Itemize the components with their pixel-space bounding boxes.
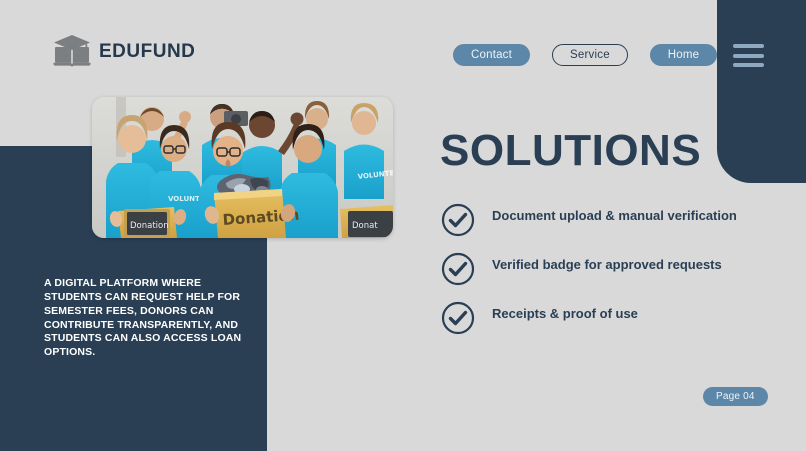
feature-label: Document upload & manual verification: [492, 202, 737, 225]
hamburger-bar-2: [733, 54, 764, 58]
check-circle-icon: [441, 252, 475, 286]
feature-label: Verified badge for approved requests: [492, 251, 722, 274]
feature-item: Receipts & proof of use: [441, 300, 761, 335]
brand-name: EDUFUND: [99, 42, 195, 61]
svg-text:Donation: Donation: [130, 221, 169, 231]
graduation-cap-book-icon: [52, 31, 92, 71]
hamburger-bar-3: [733, 63, 764, 67]
feature-list: Document upload & manual verification Ve…: [441, 202, 761, 335]
left-panel-description: A DIGITAL PLATFORM WHERE STUDENTS CAN RE…: [44, 277, 244, 360]
feature-label: Receipts & proof of use: [492, 300, 638, 323]
nav-item-home[interactable]: Home: [650, 44, 717, 66]
page-title: SOLUTIONS: [440, 128, 701, 174]
top-right-dark-panel: [717, 0, 806, 183]
check-circle-icon: [441, 203, 475, 237]
svg-text:Donat: Donat: [352, 221, 378, 231]
hamburger-menu-icon[interactable]: [733, 44, 764, 67]
main-nav: Contact Service Home: [453, 44, 717, 66]
feature-item: Document upload & manual verification: [441, 202, 761, 237]
page-number-badge: Page 04: [703, 387, 768, 406]
brand-logo[interactable]: EDUFUND: [52, 31, 195, 71]
volunteers-donation-photo: VOLUNTEER VOLUNTEER: [92, 97, 393, 238]
hamburger-bar-1: [733, 44, 764, 48]
feature-item: Verified badge for approved requests: [441, 251, 761, 286]
nav-item-contact[interactable]: Contact: [453, 44, 530, 66]
check-circle-icon: [441, 301, 475, 335]
nav-item-service[interactable]: Service: [552, 44, 628, 66]
slide-root: EDUFUND Contact Service Home: [0, 0, 806, 451]
